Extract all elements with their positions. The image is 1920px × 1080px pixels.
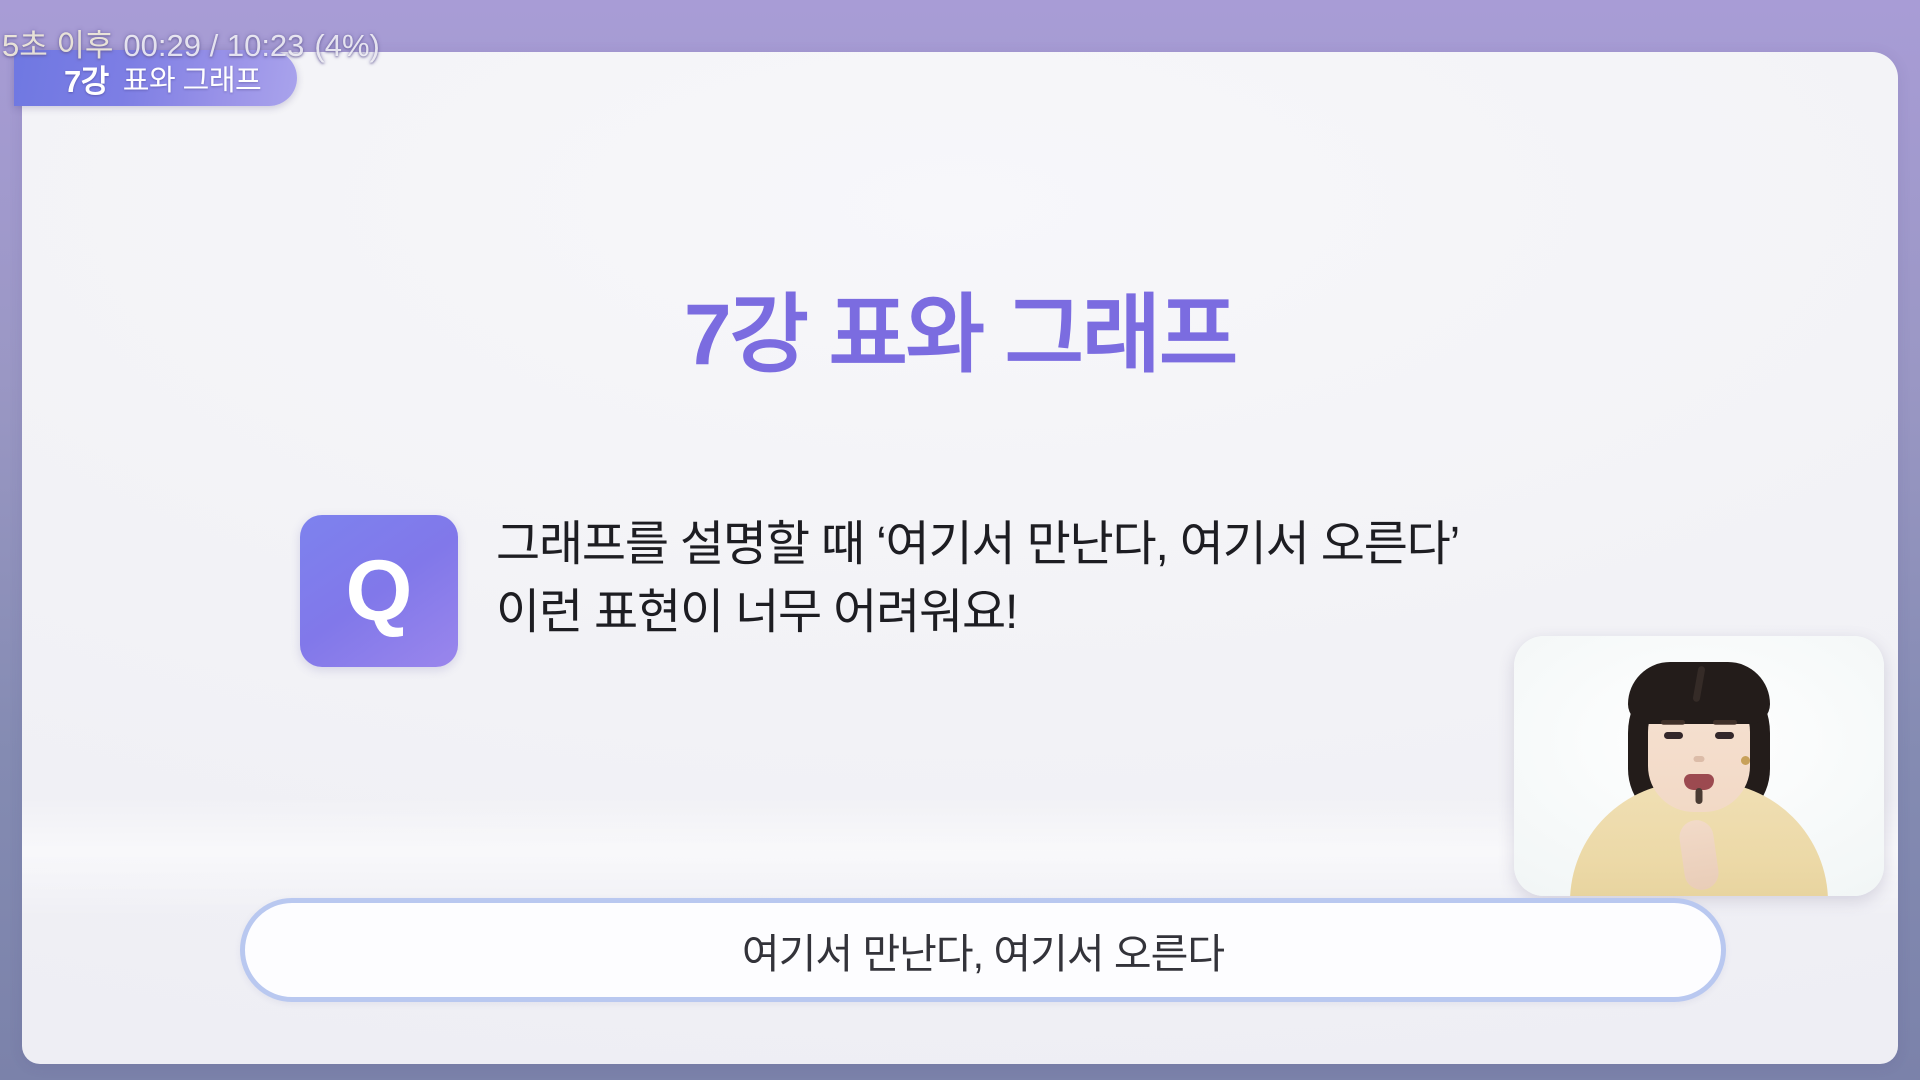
answer-pill[interactable]: 여기서 만난다, 여기서 오른다 <box>240 898 1726 1002</box>
instructor-nose <box>1694 756 1705 762</box>
question-line-2: 이런 표현이 너무 어려워요! <box>496 579 1459 647</box>
video-player-frame: 7강 표와 그래프 Q 그래프를 설명할 때 ‘여기서 만난다, 여기서 오른다… <box>0 0 1920 1080</box>
question-badge: Q <box>300 515 458 667</box>
page-title: 7강 표와 그래프 <box>22 264 1898 389</box>
instructor-video-overlay[interactable] <box>1514 636 1884 896</box>
player-status-overlay: 5초 이후 00:29 / 10:23 (4%) <box>2 20 380 65</box>
instructor-eye-left <box>1664 732 1683 739</box>
question-text: 그래프를 설명할 때 ‘여기서 만난다, 여기서 오른다’ 이런 표현이 너무 … <box>496 497 1459 647</box>
instructor-eye-right <box>1715 732 1734 739</box>
answer-pill-label: 여기서 만난다, 여기서 오른다 <box>742 920 1224 980</box>
playback-time: 00:29 / 10:23 <box>123 28 304 64</box>
skip-hint-label: 5초 이후 <box>2 20 113 65</box>
slide-card: 7강 표와 그래프 Q 그래프를 설명할 때 ‘여기서 만난다, 여기서 오른다… <box>22 52 1898 1064</box>
instructor-eyebrow-left <box>1661 720 1685 725</box>
playback-percent: (4%) <box>314 28 379 64</box>
question-block: Q 그래프를 설명할 때 ‘여기서 만난다, 여기서 오른다’ 이런 표현이 너… <box>300 497 1459 667</box>
question-badge-letter: Q <box>346 548 413 634</box>
instructor-earring <box>1741 756 1750 765</box>
question-line-1: 그래프를 설명할 때 ‘여기서 만난다, 여기서 오른다’ <box>496 511 1459 579</box>
instructor-eyebrow-right <box>1713 720 1737 725</box>
instructor-microphone <box>1696 788 1703 804</box>
